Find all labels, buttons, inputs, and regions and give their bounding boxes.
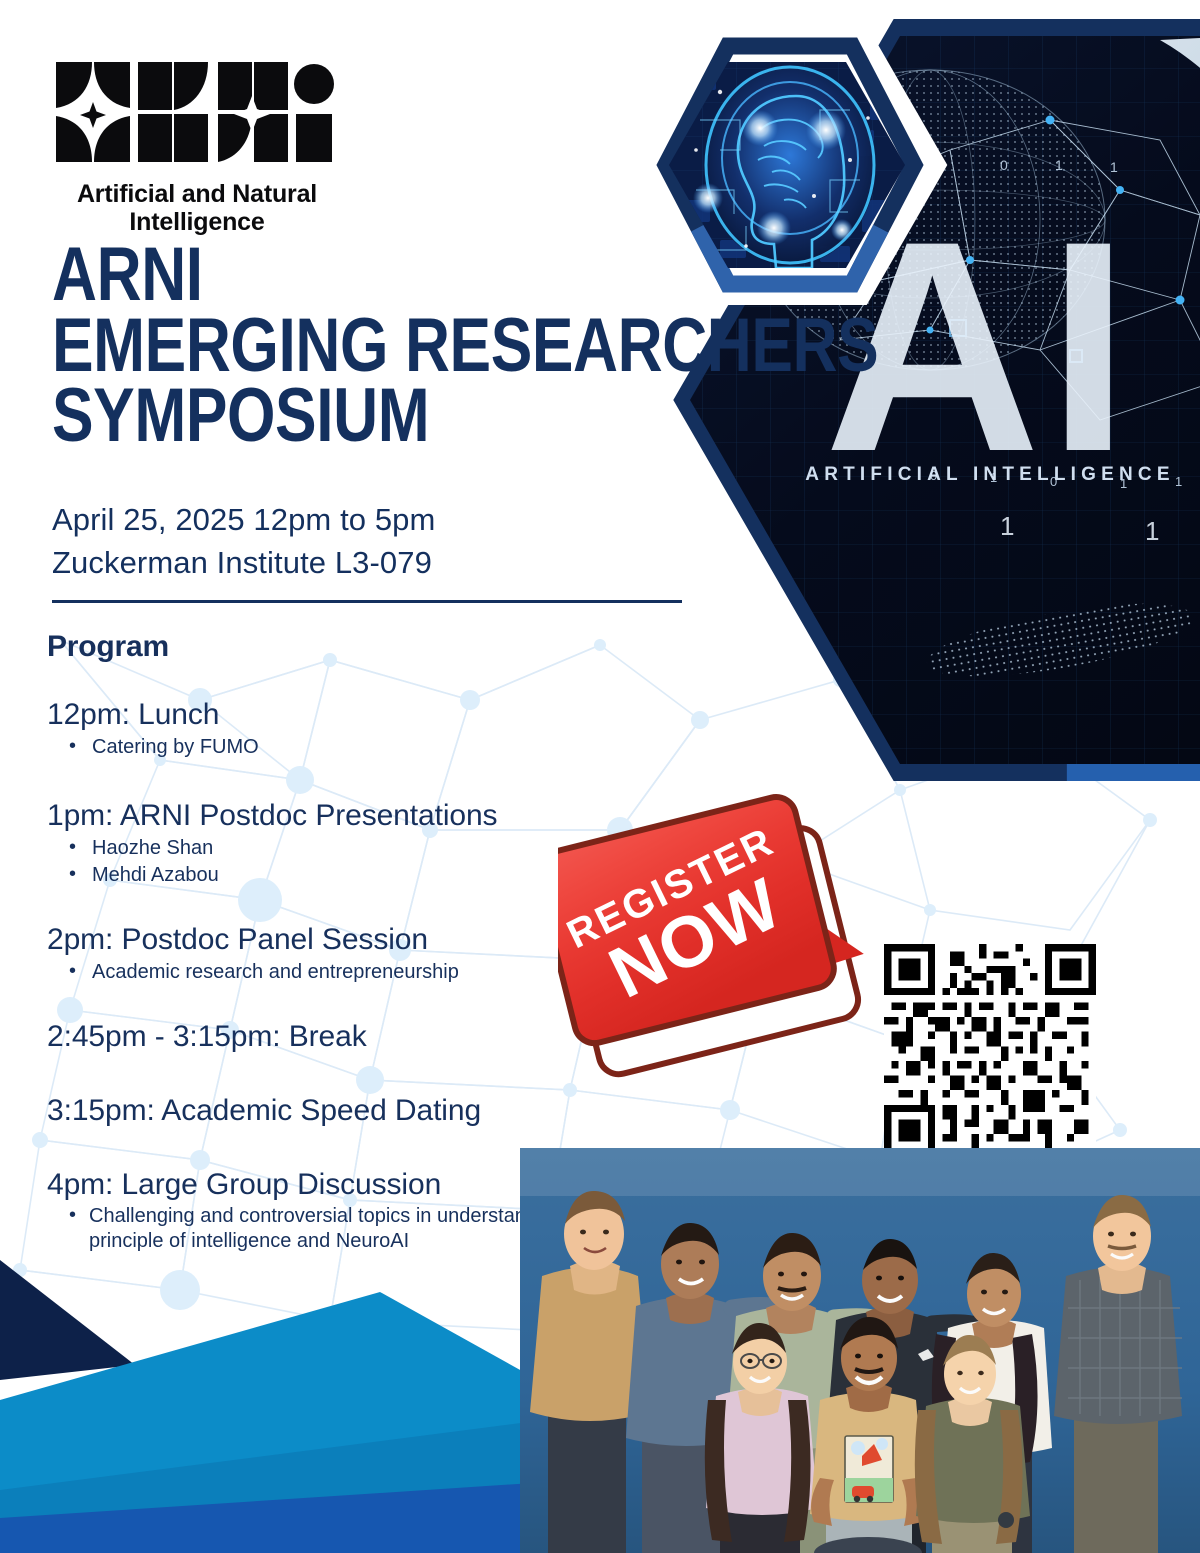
svg-text:1: 1 <box>1110 159 1118 175</box>
program-slot-time: 3:15pm: Academic Speed Dating <box>47 1094 607 1128</box>
svg-text:1: 1 <box>1175 474 1182 489</box>
logo-tagline-line1: Artificial and Natural <box>52 180 342 208</box>
ai-sub-text: ARTIFICIAL INTELLIGENCE <box>805 464 1174 485</box>
headline-line-2: EMERGING RESEARCHERS <box>52 311 626 382</box>
svg-text:0: 0 <box>1000 157 1008 173</box>
program-heading: Program <box>47 630 607 664</box>
program-slot-items: Catering by FUMO <box>47 735 607 759</box>
register-now-badge[interactable]: REGISTER NOW <box>558 793 878 1103</box>
event-details: April 25, 2025 12pm to 5pm Zuckerman Ins… <box>52 498 435 585</box>
svg-text:1: 1 <box>1145 516 1159 546</box>
program-slot-items: Academic research and entrepreneurship <box>47 960 607 984</box>
program-slot-time: 12pm: Lunch <box>47 698 607 732</box>
program-slot-time: 1pm: ARNI Postdoc Presentations <box>47 799 607 833</box>
registration-qr-code[interactable] <box>884 944 1096 1156</box>
program-slot-items: Haozhe Shan Mehdi Azabou <box>47 836 607 888</box>
list-item: Catering by FUMO <box>47 735 607 759</box>
svg-text:1: 1 <box>1000 511 1014 541</box>
navy-triangle <box>0 1260 135 1380</box>
arni-logo: Artificial and Natural Intelligence <box>52 56 352 237</box>
poster-canvas: 0 1 1 0 1 0 1 1 1 1 AI ARTIFICIAL <box>0 0 1200 1553</box>
arni-logo-tagline: Artificial and Natural Intelligence <box>52 180 342 237</box>
headline-line-1: ARNI <box>52 240 626 311</box>
program-slot: 1pm: ARNI Postdoc Presentations Haozhe S… <box>47 799 607 887</box>
arni-group-photo <box>520 1148 1200 1553</box>
program-slot: 3:15pm: Academic Speed Dating <box>47 1094 607 1128</box>
program-slot-time: 2:45pm - 3:15pm: Break <box>47 1020 607 1054</box>
arni-logo-mark <box>52 56 334 168</box>
list-item: Haozhe Shan <box>47 836 607 860</box>
program-slot: 2pm: Postdoc Panel Session Academic rese… <box>47 923 607 984</box>
program-slot-time: 2pm: Postdoc Panel Session <box>47 923 607 957</box>
list-item: Academic research and entrepreneurship <box>47 960 607 984</box>
program-slot: 12pm: Lunch Catering by FUMO <box>47 698 607 759</box>
section-divider <box>52 600 682 603</box>
svg-text:1: 1 <box>1055 157 1063 173</box>
list-item: Mehdi Azabou <box>47 863 607 887</box>
page-title: ARNI EMERGING RESEARCHERS SYMPOSIUM <box>52 240 752 452</box>
event-location: Zuckerman Institute L3-079 <box>52 541 435 584</box>
event-date-time: April 25, 2025 12pm to 5pm <box>52 498 435 541</box>
headline-line-3: SYMPOSIUM <box>52 381 626 452</box>
program-slot: 2:45pm - 3:15pm: Break <box>47 1020 607 1054</box>
